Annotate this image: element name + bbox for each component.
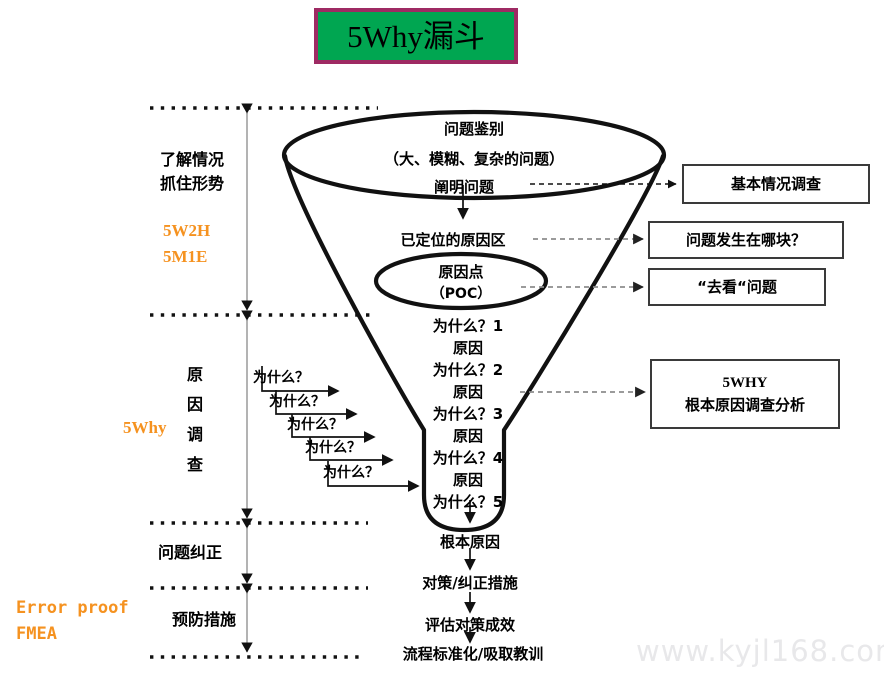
funnel-why-step-4: 为什么？3	[398, 403, 538, 424]
funnel-why-step-5: 原因	[398, 425, 538, 446]
stage2-label-char-1: 因	[184, 390, 206, 420]
right-box-go-see[interactable]: “去看“问题	[648, 268, 826, 306]
right-box-5why-analysis-line1: 5WHY	[723, 372, 768, 394]
funnel-why-step-1: 原因	[398, 337, 538, 358]
outcome-evaluate: 评估对策成效	[390, 614, 550, 635]
right-box-basic-survey[interactable]: 基本情况调查	[682, 164, 870, 204]
diagram-canvas: 5Why漏斗 了解情况 抓住形势 5W2H 5M1E 5Why 原 因 调 查 …	[0, 0, 884, 678]
stage2-label-char-3: 查	[184, 450, 206, 480]
title-box: 5Why漏斗	[314, 8, 518, 64]
right-box-5why-analysis-line2: 根本原因调查分析	[685, 394, 805, 416]
stage1-label-line2: 抓住形势	[160, 172, 224, 196]
right-box-basic-survey-label: 基本情况调查	[731, 173, 821, 195]
stage3-label: 问题纠正	[158, 541, 222, 565]
stage4-tool-errorproof: Error proof	[16, 596, 129, 620]
right-box-5why-analysis[interactable]: 5WHY 根本原因调查分析	[650, 359, 840, 429]
why-ladder-item-1: 为什么？	[269, 391, 325, 411]
right-box-where-problem[interactable]: 问题发生在哪块？	[648, 221, 844, 259]
why-ladder-item-3: 为什么？	[305, 437, 361, 457]
funnel-clarify-problem: 阐明问题	[374, 176, 554, 197]
right-box-where-problem-label: 问题发生在哪块？	[686, 229, 806, 251]
why-ladder-item-2: 为什么？	[287, 414, 343, 434]
page-title: 5Why漏斗	[347, 21, 485, 52]
outcome-countermeasure: 对策/纠正措施	[385, 572, 555, 593]
stage1-tool-5w2h: 5W2H	[163, 219, 210, 243]
funnel-cause-zone: 已定位的原因区	[368, 229, 538, 250]
funnel-top-subtitle: （大、模糊、复杂的问题）	[339, 148, 609, 169]
why-ladder-item-0: 为什么？	[253, 367, 309, 387]
stage2-label-char-0: 原	[184, 360, 206, 390]
funnel-why-step-7: 原因	[398, 469, 538, 490]
stage2-tool-5why: 5Why	[123, 416, 166, 440]
funnel-why-step-6: 为什么？4	[398, 447, 538, 468]
funnel-poc-line2: （POC）	[391, 283, 531, 303]
why-ladder-item-4: 为什么？	[323, 462, 379, 482]
funnel-why-step-8: 为什么？5	[398, 491, 538, 512]
outcome-root-cause: 根本原因	[400, 531, 540, 552]
funnel-why-step-0: 为什么？1	[398, 315, 538, 336]
right-box-go-see-label: “去看“问题	[697, 276, 777, 298]
funnel-why-step-2: 为什么？2	[398, 359, 538, 380]
funnel-poc-line1: 原因点	[391, 261, 531, 282]
stage1-label-line1: 了解情况	[160, 148, 224, 172]
stage1-tool-5m1e: 5M1E	[163, 245, 207, 269]
stage4-label: 预防措施	[172, 608, 236, 632]
stage2-label-char-2: 调	[184, 420, 206, 450]
outcome-standardize: 流程标准化/吸取教训	[373, 643, 573, 664]
funnel-top-title: 问题鉴别	[374, 118, 574, 139]
stage4-tool-fmea: FMEA	[16, 622, 57, 646]
funnel-why-step-3: 原因	[398, 381, 538, 402]
watermark: www.kyjl168.com	[636, 634, 884, 668]
